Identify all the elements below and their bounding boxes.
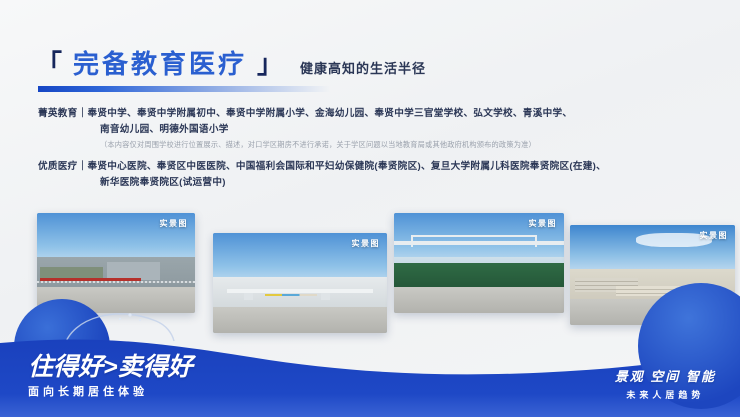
photo-pillar-right xyxy=(321,293,330,301)
section-medical-label: 优质医疗 xyxy=(38,161,78,172)
photo-green-wall xyxy=(394,263,564,289)
section-education-label: 菁英教育 xyxy=(38,108,78,119)
photo-ground xyxy=(394,287,564,313)
photo-caption-badge: 实景图 xyxy=(160,218,189,229)
title-divider-rule xyxy=(38,86,330,92)
photo-midground xyxy=(37,257,195,287)
photo-overpass-greenwall[interactable]: 实景图 xyxy=(394,213,564,313)
footer-slogan-right-sub: 未来人居趋势 xyxy=(615,388,716,401)
title-subtitle: 健康高知的生活半径 xyxy=(300,58,426,77)
section-education-line2: 南音幼儿园、明德外国语小学 xyxy=(38,122,710,138)
title-bracket-close: 」 xyxy=(257,44,284,81)
photo-strip: 实景图 实景图 实景图 xyxy=(0,205,740,335)
photo-caption-badge: 实景图 xyxy=(700,230,729,241)
section-medical-separator: ｜ xyxy=(78,161,88,172)
section-medical-text1: 奉贤中心医院、奉贤区中医医院、中国福利会国际和平妇幼保健院(奉贤院区)、复旦大学… xyxy=(87,161,606,172)
slide-canvas: 「 完备教育医疗 」 健康高知的生活半径 菁英教育｜奉贤中学、奉贤中学附属初中、… xyxy=(0,0,740,417)
footer-slogan-left-main: 住得好>卖得好 xyxy=(28,353,193,381)
footer-slogan-left-sub: 面向长期居住体验 xyxy=(28,383,193,399)
photo-midground xyxy=(213,277,387,307)
footer-slogan-right: 景观 空间 智能 未来人居趋势 xyxy=(615,366,716,401)
photo-fence xyxy=(37,281,195,283)
section-education-text1: 奉贤中学、奉贤中学附属初中、奉贤中学附属小学、金海幼儿园、奉贤中学三官堂学校、弘… xyxy=(87,108,572,119)
content-copy: 菁英教育｜奉贤中学、奉贤中学附属初中、奉贤中学附属小学、金海幼儿园、奉贤中学三官… xyxy=(38,106,710,198)
section-education-note: （本内容仅对周围学校进行位置展示、描述，对口学区期房不进行承诺，关于学区问题以当… xyxy=(38,138,710,152)
section-medical-line2: 新华医院奉贤院区(试运营中) xyxy=(38,175,710,191)
section-education: 菁英教育｜奉贤中学、奉贤中学附属初中、奉贤中学附属小学、金海幼儿园、奉贤中学三官… xyxy=(38,106,710,152)
photo-pillar-left xyxy=(244,293,253,301)
title-bracket-open: 「 xyxy=(36,44,63,81)
photo-color-panels xyxy=(265,294,317,297)
section-medical: 优质医疗｜奉贤中心医院、奉贤区中医医院、中国福利会国际和平妇幼保健院(奉贤院区)… xyxy=(38,159,710,191)
footer-slogan-right-main: 景观 空间 智能 xyxy=(615,366,716,385)
page-title: 「 完备教育医疗 」 健康高知的生活半径 xyxy=(36,44,426,81)
title-main-text: 完备教育医疗 xyxy=(73,44,247,81)
section-medical-line1: 优质医疗｜奉贤中心医院、奉贤区中医医院、中国福利会国际和平妇幼保健院(奉贤院区)… xyxy=(38,159,710,175)
photo-school-campus[interactable]: 实景图 xyxy=(37,213,195,313)
section-education-line1: 菁英教育｜奉贤中学、奉贤中学附属初中、奉贤中学附属小学、金海幼儿园、奉贤中学三官… xyxy=(38,106,710,122)
photo-overpass-deck xyxy=(394,241,564,245)
photo-caption-badge: 实景图 xyxy=(529,218,558,229)
footer-slogan-left: 住得好>卖得好 面向长期居住体验 xyxy=(28,353,193,399)
photo-caption-badge: 实景图 xyxy=(352,238,381,249)
section-education-separator: ｜ xyxy=(78,108,88,119)
